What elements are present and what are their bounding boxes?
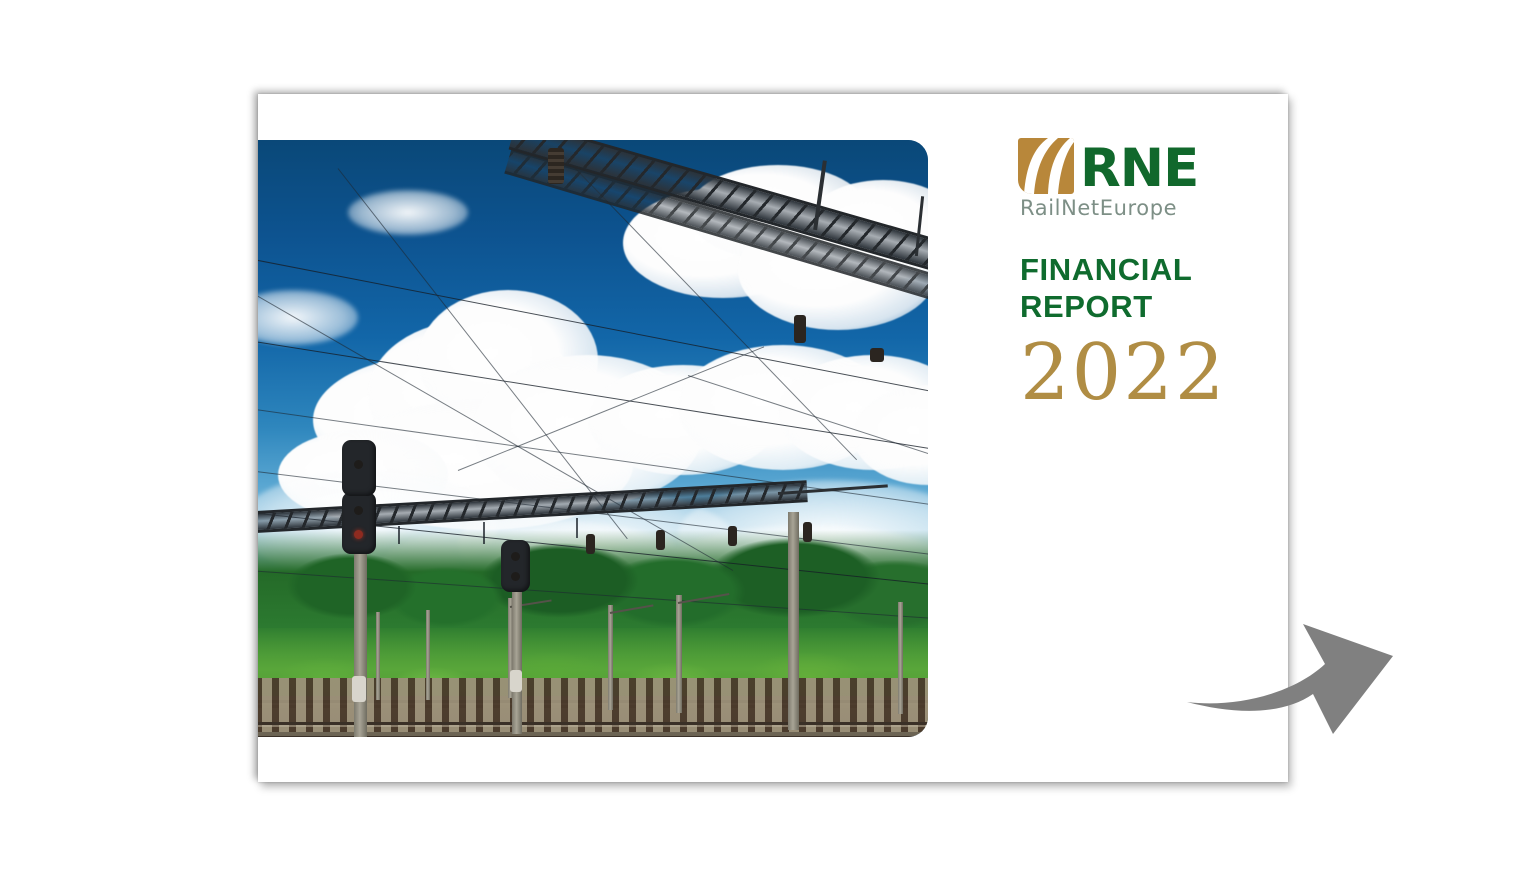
catenary-mast [788, 512, 799, 730]
signal-lamp-dark [511, 552, 520, 561]
insulator [656, 530, 665, 550]
railway-catenary-photo [258, 140, 928, 737]
catenary-mast [676, 595, 682, 713]
signal-lamp-dark [354, 460, 363, 469]
signal-lamp-dark [354, 506, 363, 515]
insulator [803, 522, 812, 542]
insulator [548, 148, 564, 184]
signal-head [342, 440, 376, 496]
page-title: FINANCIAL REPORT [1020, 252, 1192, 325]
signal-plate [352, 676, 366, 702]
signal-plate [510, 670, 522, 692]
dropper [483, 522, 485, 544]
rne-wordmark: RNE [1080, 144, 1198, 194]
insulator [794, 315, 806, 343]
signal-lamp-red [354, 530, 363, 539]
insulator [870, 348, 884, 362]
catenary-mast [898, 602, 903, 714]
next-page-arrow[interactable] [1185, 604, 1395, 736]
signal-lamp-dark [511, 572, 520, 581]
screenshot-stage: RNE RailNetEurope FINANCIAL REPORT 2022 [0, 0, 1536, 871]
insulator [728, 526, 737, 546]
catenary-mast [608, 605, 613, 710]
dropper [576, 518, 578, 538]
rne-logo[interactable]: RNE RailNetEurope [1018, 138, 1258, 220]
report-year: 2022 [1020, 334, 1227, 412]
dropper [398, 526, 400, 544]
rne-logo-mark [1018, 138, 1074, 194]
catenary-mast [376, 612, 380, 700]
signal-head [501, 540, 530, 592]
rne-logo-subtitle: RailNetEurope [1020, 196, 1258, 220]
cloud [348, 190, 468, 235]
document-cover-card: RNE RailNetEurope FINANCIAL REPORT 2022 [258, 94, 1288, 782]
catenary-mast [426, 610, 430, 700]
signal-head [342, 492, 376, 554]
insulator [586, 534, 595, 554]
